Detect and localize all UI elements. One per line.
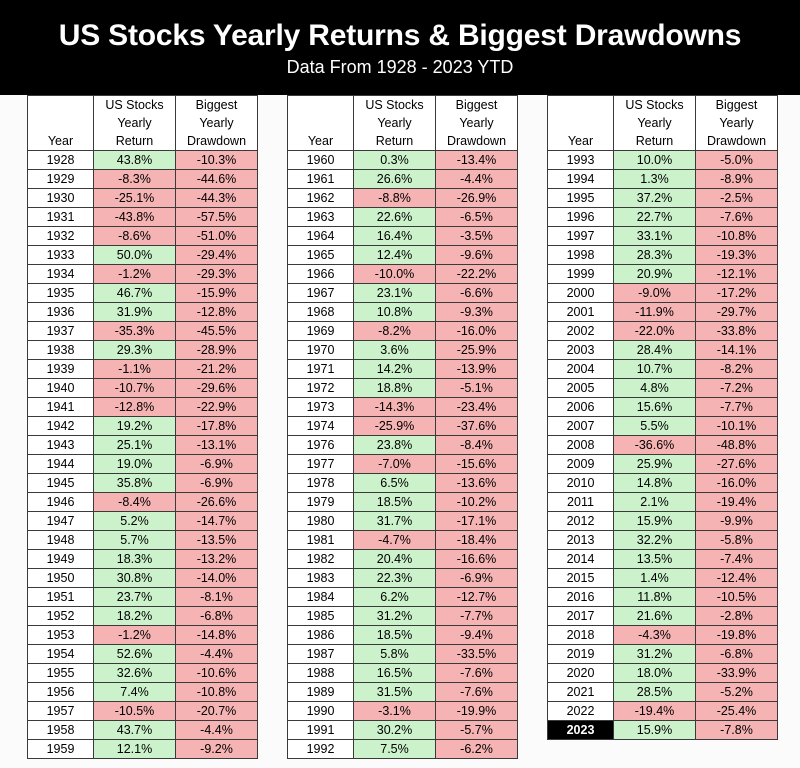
yearly-return-cell: 30.8% [94, 569, 176, 588]
table-row: 197218.8%-5.1% [288, 379, 518, 398]
yearly-return-cell: 3.6% [354, 341, 436, 360]
table-row: 193350.0%-29.4% [28, 246, 258, 265]
yearly-return-cell: 31.5% [354, 683, 436, 702]
year-cell: 1931 [28, 208, 94, 227]
year-cell: 1988 [288, 664, 354, 683]
table-row: 1974-25.9%-37.6% [288, 417, 518, 436]
yearly-return-cell: -12.8% [94, 398, 176, 417]
biggest-drawdown-cell: -15.6% [436, 455, 518, 474]
year-cell: 1933 [28, 246, 94, 265]
biggest-drawdown-cell: -26.9% [436, 189, 518, 208]
yearly-return-cell: 23.1% [354, 284, 436, 303]
yearly-return-cell: -14.3% [354, 398, 436, 417]
yearly-return-cell: 15.6% [614, 398, 696, 417]
table-row: 1940-10.7%-29.6% [28, 379, 258, 398]
biggest-drawdown-cell: -12.8% [176, 303, 258, 322]
table-row: 1966-10.0%-22.2% [288, 265, 518, 284]
year-cell: 2007 [548, 417, 614, 436]
returns-table-panel-2: YearUS StocksYearlyReturnBiggestYearlyDr… [287, 95, 518, 759]
yearly-return-cell: 1.3% [614, 170, 696, 189]
biggest-drawdown-cell: -4.4% [176, 721, 258, 740]
yearly-return-cell: -1.2% [94, 626, 176, 645]
biggest-drawdown-cell: -10.1% [696, 417, 778, 436]
year-cell: 1943 [28, 436, 94, 455]
year-cell: 2001 [548, 303, 614, 322]
table-header-row: YearUS StocksYearlyReturnBiggestYearlyDr… [548, 96, 778, 151]
year-cell: 2020 [548, 664, 614, 683]
table-row: 193546.7%-15.9% [28, 284, 258, 303]
biggest-drawdown-cell: -7.8% [696, 721, 778, 740]
table-row: 19703.6%-25.9% [288, 341, 518, 360]
yearly-return-cell: 18.8% [354, 379, 436, 398]
year-cell: 1945 [28, 474, 94, 493]
yearly-return-cell: 18.3% [94, 550, 176, 569]
column-header-yearly-return: US StocksYearlyReturn [94, 96, 176, 151]
yearly-return-cell: 7.4% [94, 683, 176, 702]
yearly-return-cell: 5.5% [614, 417, 696, 436]
yearly-return-cell: -4.7% [354, 531, 436, 550]
year-cell: 1934 [28, 265, 94, 284]
biggest-drawdown-cell: -17.8% [176, 417, 258, 436]
table-row: 194219.2%-17.8% [28, 417, 258, 436]
yearly-return-cell: -19.4% [614, 702, 696, 721]
year-cell: 1989 [288, 683, 354, 702]
yearly-return-cell: 7.5% [354, 740, 436, 759]
table-row: 193631.9%-12.8% [28, 303, 258, 322]
biggest-drawdown-cell: -5.0% [696, 151, 778, 170]
table-row: 1946-8.4%-26.6% [28, 493, 258, 512]
biggest-drawdown-cell: -12.4% [696, 569, 778, 588]
yearly-return-cell: -1.1% [94, 360, 176, 379]
table-row: 201215.9%-9.9% [548, 512, 778, 531]
year-cell: 1944 [28, 455, 94, 474]
table-row: 2002-22.0%-33.8% [548, 322, 778, 341]
table-row: 1929-8.3%-44.6% [28, 170, 258, 189]
biggest-drawdown-cell: -51.0% [176, 227, 258, 246]
year-cell: 1928 [28, 151, 94, 170]
biggest-drawdown-cell: -6.5% [436, 208, 518, 227]
table-row: 199537.2%-2.5% [548, 189, 778, 208]
biggest-drawdown-cell: -6.9% [176, 455, 258, 474]
biggest-drawdown-cell: -16.6% [436, 550, 518, 569]
year-cell: 1999 [548, 265, 614, 284]
biggest-drawdown-cell: -8.1% [176, 588, 258, 607]
yearly-return-cell: 26.6% [354, 170, 436, 189]
year-cell: 1991 [288, 721, 354, 740]
yearly-return-cell: 33.1% [614, 227, 696, 246]
year-cell: 1976 [288, 436, 354, 455]
table-row: 200410.7%-8.2% [548, 360, 778, 379]
year-cell: 1956 [28, 683, 94, 702]
year-cell: 2016 [548, 588, 614, 607]
table-row: 19786.5%-13.6% [288, 474, 518, 493]
yearly-return-cell: 23.8% [354, 436, 436, 455]
table-row: 201332.2%-5.8% [548, 531, 778, 550]
biggest-drawdown-cell: -6.9% [436, 569, 518, 588]
year-cell: 1972 [288, 379, 354, 398]
table-row: 1939-1.1%-21.2% [28, 360, 258, 379]
yearly-return-cell: 28.4% [614, 341, 696, 360]
table-row: 19941.3%-8.9% [548, 170, 778, 189]
table-row: 201721.6%-2.8% [548, 607, 778, 626]
yearly-return-cell: 6.5% [354, 474, 436, 493]
table-row: 193829.3%-28.9% [28, 341, 258, 360]
biggest-drawdown-cell: -27.6% [696, 455, 778, 474]
yearly-return-cell: 10.0% [614, 151, 696, 170]
biggest-drawdown-cell: -7.7% [696, 398, 778, 417]
table-row: 1977-7.0%-15.6% [288, 455, 518, 474]
yearly-return-cell: 20.9% [614, 265, 696, 284]
table-row: 197918.5%-10.2% [288, 493, 518, 512]
biggest-drawdown-cell: -2.8% [696, 607, 778, 626]
year-cell-highlighted: 2023 [548, 721, 614, 740]
yearly-return-cell: 28.5% [614, 683, 696, 702]
table-row: 194419.0%-6.9% [28, 455, 258, 474]
biggest-drawdown-cell: -6.8% [696, 645, 778, 664]
year-cell: 1993 [548, 151, 614, 170]
yearly-return-cell: -22.0% [614, 322, 696, 341]
yearly-return-cell: 32.6% [94, 664, 176, 683]
biggest-drawdown-cell: -2.5% [696, 189, 778, 208]
year-cell: 1996 [548, 208, 614, 227]
yearly-return-cell: 18.5% [354, 493, 436, 512]
biggest-drawdown-cell: -10.8% [176, 683, 258, 702]
yearly-return-cell: 5.8% [354, 645, 436, 664]
yearly-return-cell: 35.8% [94, 474, 176, 493]
biggest-drawdown-cell: -14.8% [176, 626, 258, 645]
biggest-drawdown-cell: -16.0% [696, 474, 778, 493]
table-row: 196322.6%-6.5% [288, 208, 518, 227]
year-cell: 1983 [288, 569, 354, 588]
biggest-drawdown-cell: -21.2% [176, 360, 258, 379]
biggest-drawdown-cell: -13.2% [176, 550, 258, 569]
yearly-return-cell: 43.7% [94, 721, 176, 740]
year-cell: 1938 [28, 341, 94, 360]
yearly-return-cell: 19.2% [94, 417, 176, 436]
yearly-return-cell: 46.7% [94, 284, 176, 303]
year-cell: 1982 [288, 550, 354, 569]
year-cell: 1962 [288, 189, 354, 208]
biggest-drawdown-cell: -48.8% [696, 436, 778, 455]
table-row: 196126.6%-4.4% [288, 170, 518, 189]
biggest-drawdown-cell: -26.6% [176, 493, 258, 512]
table-row: 200615.6%-7.7% [548, 398, 778, 417]
yearly-return-cell: -10.0% [354, 265, 436, 284]
biggest-drawdown-cell: -19.4% [696, 493, 778, 512]
column-header-year: Year [288, 96, 354, 151]
biggest-drawdown-cell: -22.9% [176, 398, 258, 417]
year-cell: 2018 [548, 626, 614, 645]
title-banner: US Stocks Yearly Returns & Biggest Drawd… [0, 0, 800, 95]
yearly-return-cell: 22.6% [354, 208, 436, 227]
yearly-return-cell: 13.5% [614, 550, 696, 569]
year-cell: 2014 [548, 550, 614, 569]
year-cell: 1951 [28, 588, 94, 607]
tables-area: YearUS StocksYearlyReturnBiggestYearlyDr… [0, 95, 800, 768]
table-row: 2001-11.9%-29.7% [548, 303, 778, 322]
table-row: 196416.4%-3.5% [288, 227, 518, 246]
table-row: 19475.2%-14.7% [28, 512, 258, 531]
table-row: 20075.5%-10.1% [548, 417, 778, 436]
biggest-drawdown-cell: -5.2% [696, 683, 778, 702]
column-header-year: Year [548, 96, 614, 151]
table-row: 1969-8.2%-16.0% [288, 322, 518, 341]
table-row: 194325.1%-13.1% [28, 436, 258, 455]
table-row: 1932-8.6%-51.0% [28, 227, 258, 246]
table-row: 19846.2%-12.7% [288, 588, 518, 607]
biggest-drawdown-cell: -13.4% [436, 151, 518, 170]
biggest-drawdown-cell: -14.0% [176, 569, 258, 588]
year-cell: 2009 [548, 455, 614, 474]
biggest-drawdown-cell: -9.9% [696, 512, 778, 531]
year-cell: 1970 [288, 341, 354, 360]
biggest-drawdown-cell: -10.6% [176, 664, 258, 683]
year-cell: 1953 [28, 626, 94, 645]
biggest-drawdown-cell: -8.4% [436, 436, 518, 455]
year-cell: 1948 [28, 531, 94, 550]
yearly-return-cell: 22.3% [354, 569, 436, 588]
table-row: 195532.6%-10.6% [28, 664, 258, 683]
table-row: 198816.5%-7.6% [288, 664, 518, 683]
biggest-drawdown-cell: -12.1% [696, 265, 778, 284]
biggest-drawdown-cell: -9.2% [176, 740, 258, 759]
yearly-return-cell: 37.2% [614, 189, 696, 208]
table-row: 195452.6%-4.4% [28, 645, 258, 664]
table-row: 198322.3%-6.9% [288, 569, 518, 588]
year-cell: 1930 [28, 189, 94, 208]
biggest-drawdown-cell: -6.8% [176, 607, 258, 626]
table-row: 201611.8%-10.5% [548, 588, 778, 607]
year-cell: 1963 [288, 208, 354, 227]
biggest-drawdown-cell: -14.1% [696, 341, 778, 360]
table-row: 198031.7%-17.1% [288, 512, 518, 531]
year-cell: 1967 [288, 284, 354, 303]
table-row: 192843.8%-10.3% [28, 151, 258, 170]
table-row: 1962-8.8%-26.9% [288, 189, 518, 208]
page-title: US Stocks Yearly Returns & Biggest Drawd… [59, 20, 742, 52]
year-cell: 1971 [288, 360, 354, 379]
returns-table: YearUS StocksYearlyReturnBiggestYearlyDr… [287, 95, 518, 759]
yearly-return-cell: -8.6% [94, 227, 176, 246]
yearly-return-cell: 30.2% [354, 721, 436, 740]
yearly-return-cell: 23.7% [94, 588, 176, 607]
biggest-drawdown-cell: -10.5% [696, 588, 778, 607]
biggest-drawdown-cell: -13.5% [176, 531, 258, 550]
year-cell: 1992 [288, 740, 354, 759]
yearly-return-cell: 18.2% [94, 607, 176, 626]
yearly-return-cell: 16.4% [354, 227, 436, 246]
yearly-return-cell: 29.3% [94, 341, 176, 360]
biggest-drawdown-cell: -6.9% [176, 474, 258, 493]
yearly-return-cell: 31.2% [354, 607, 436, 626]
table-row: 200328.4%-14.1% [548, 341, 778, 360]
yearly-return-cell: -8.4% [94, 493, 176, 512]
year-cell: 2000 [548, 284, 614, 303]
biggest-drawdown-cell: -7.6% [436, 683, 518, 702]
year-cell: 2015 [548, 569, 614, 588]
table-row: 1931-43.8%-57.5% [28, 208, 258, 227]
column-header-biggest-drawdown: BiggestYearlyDrawdown [176, 96, 258, 151]
biggest-drawdown-cell: -33.8% [696, 322, 778, 341]
biggest-drawdown-cell: -45.5% [176, 322, 258, 341]
yearly-return-cell: 11.8% [614, 588, 696, 607]
year-cell: 1995 [548, 189, 614, 208]
biggest-drawdown-cell: -3.5% [436, 227, 518, 246]
biggest-drawdown-cell: -8.9% [696, 170, 778, 189]
biggest-drawdown-cell: -37.6% [436, 417, 518, 436]
biggest-drawdown-cell: -6.6% [436, 284, 518, 303]
year-cell: 1986 [288, 626, 354, 645]
table-row: 1957-10.5%-20.7% [28, 702, 258, 721]
table-row: 201931.2%-6.8% [548, 645, 778, 664]
yearly-return-cell: -43.8% [94, 208, 176, 227]
year-cell: 1987 [288, 645, 354, 664]
table-row: 196723.1%-6.6% [288, 284, 518, 303]
yearly-return-cell: 25.9% [614, 455, 696, 474]
yearly-return-cell: 31.7% [354, 512, 436, 531]
year-cell: 1966 [288, 265, 354, 284]
table-row: 2000-9.0%-17.2% [548, 284, 778, 303]
table-row: 202128.5%-5.2% [548, 683, 778, 702]
column-header-biggest-drawdown: BiggestYearlyDrawdown [696, 96, 778, 151]
table-row: 19875.8%-33.5% [288, 645, 518, 664]
yearly-return-cell: 25.1% [94, 436, 176, 455]
yearly-return-cell: 18.0% [614, 664, 696, 683]
table-row: 200925.9%-27.6% [548, 455, 778, 474]
biggest-drawdown-cell: -4.4% [436, 170, 518, 189]
biggest-drawdown-cell: -13.9% [436, 360, 518, 379]
yearly-return-cell: 4.8% [614, 379, 696, 398]
year-cell: 1961 [288, 170, 354, 189]
table-row: 196512.4%-9.6% [288, 246, 518, 265]
year-cell: 2017 [548, 607, 614, 626]
table-row: 19600.3%-13.4% [288, 151, 518, 170]
year-cell: 1942 [28, 417, 94, 436]
yearly-return-cell: -35.3% [94, 322, 176, 341]
table-row: 197623.8%-8.4% [288, 436, 518, 455]
biggest-drawdown-cell: -19.3% [696, 246, 778, 265]
biggest-drawdown-cell: -12.7% [436, 588, 518, 607]
year-cell: 1954 [28, 645, 94, 664]
biggest-drawdown-cell: -25.4% [696, 702, 778, 721]
year-cell: 1994 [548, 170, 614, 189]
year-cell: 2012 [548, 512, 614, 531]
biggest-drawdown-cell: -14.7% [176, 512, 258, 531]
yearly-return-cell: -8.3% [94, 170, 176, 189]
year-cell: 2003 [548, 341, 614, 360]
biggest-drawdown-cell: -10.2% [436, 493, 518, 512]
table-row: 195123.7%-8.1% [28, 588, 258, 607]
table-row: 199828.3%-19.3% [548, 246, 778, 265]
table-row: 1937-35.3%-45.5% [28, 322, 258, 341]
biggest-drawdown-cell: -5.7% [436, 721, 518, 740]
year-cell: 1950 [28, 569, 94, 588]
biggest-drawdown-cell: -10.3% [176, 151, 258, 170]
biggest-drawdown-cell: -7.6% [696, 208, 778, 227]
biggest-drawdown-cell: -7.7% [436, 607, 518, 626]
year-cell: 1929 [28, 170, 94, 189]
year-cell: 2022 [548, 702, 614, 721]
table-header-row: YearUS StocksYearlyReturnBiggestYearlyDr… [288, 96, 518, 151]
year-cell: 1978 [288, 474, 354, 493]
biggest-drawdown-cell: -7.6% [436, 664, 518, 683]
year-cell: 1965 [288, 246, 354, 265]
year-cell: 2019 [548, 645, 614, 664]
yearly-return-cell: 10.7% [614, 360, 696, 379]
biggest-drawdown-cell: -23.4% [436, 398, 518, 417]
yearly-return-cell: 6.2% [354, 588, 436, 607]
biggest-drawdown-cell: -15.9% [176, 284, 258, 303]
yearly-return-cell: 18.5% [354, 626, 436, 645]
year-cell: 1984 [288, 588, 354, 607]
biggest-drawdown-cell: -9.3% [436, 303, 518, 322]
table-row: 194918.3%-13.2% [28, 550, 258, 569]
year-cell: 1936 [28, 303, 94, 322]
yearly-return-cell: -11.9% [614, 303, 696, 322]
biggest-drawdown-cell: -9.6% [436, 246, 518, 265]
table-row: 20151.4%-12.4% [548, 569, 778, 588]
yearly-return-cell: 52.6% [94, 645, 176, 664]
year-cell: 2010 [548, 474, 614, 493]
biggest-drawdown-cell: -7.4% [696, 550, 778, 569]
table-row: 199130.2%-5.7% [288, 721, 518, 740]
table-row: 195912.1%-9.2% [28, 740, 258, 759]
column-header-biggest-drawdown: BiggestYearlyDrawdown [436, 96, 518, 151]
table-row: 199920.9%-12.1% [548, 265, 778, 284]
year-cell: 1952 [28, 607, 94, 626]
biggest-drawdown-cell: -29.6% [176, 379, 258, 398]
yearly-return-cell: 5.7% [94, 531, 176, 550]
table-row: 202018.0%-33.9% [548, 664, 778, 683]
table-row: 2008-36.6%-48.8% [548, 436, 778, 455]
returns-table: YearUS StocksYearlyReturnBiggestYearlyDr… [27, 95, 258, 759]
yearly-return-cell: 2.1% [614, 493, 696, 512]
yearly-return-cell: -8.2% [354, 322, 436, 341]
year-cell: 1981 [288, 531, 354, 550]
biggest-drawdown-cell: -29.4% [176, 246, 258, 265]
biggest-drawdown-cell: -33.9% [696, 664, 778, 683]
yearly-return-cell: 19.0% [94, 455, 176, 474]
year-cell: 1958 [28, 721, 94, 740]
year-cell: 1932 [28, 227, 94, 246]
biggest-drawdown-cell: -16.0% [436, 322, 518, 341]
year-cell: 2011 [548, 493, 614, 512]
year-cell: 2006 [548, 398, 614, 417]
yearly-return-cell: 16.5% [354, 664, 436, 683]
table-row: 1934-1.2%-29.3% [28, 265, 258, 284]
biggest-drawdown-cell: -25.9% [436, 341, 518, 360]
biggest-drawdown-cell: -13.6% [436, 474, 518, 493]
yearly-return-cell: 5.2% [94, 512, 176, 531]
year-cell: 1980 [288, 512, 354, 531]
table-row: 1930-25.1%-44.3% [28, 189, 258, 208]
year-cell: 1977 [288, 455, 354, 474]
yearly-return-cell: 15.9% [614, 512, 696, 531]
year-cell: 1957 [28, 702, 94, 721]
yearly-return-cell: 12.1% [94, 740, 176, 759]
column-header-year: Year [28, 96, 94, 151]
yearly-return-cell: 31.2% [614, 645, 696, 664]
biggest-drawdown-cell: -9.4% [436, 626, 518, 645]
table-row: 199733.1%-10.8% [548, 227, 778, 246]
year-cell: 1946 [28, 493, 94, 512]
year-cell: 1985 [288, 607, 354, 626]
yearly-return-cell: 15.9% [614, 721, 696, 740]
biggest-drawdown-cell: -19.8% [696, 626, 778, 645]
yearly-return-cell: -9.0% [614, 284, 696, 303]
table-row: 1990-3.1%-19.9% [288, 702, 518, 721]
table-row: 2022-19.4%-25.4% [548, 702, 778, 721]
